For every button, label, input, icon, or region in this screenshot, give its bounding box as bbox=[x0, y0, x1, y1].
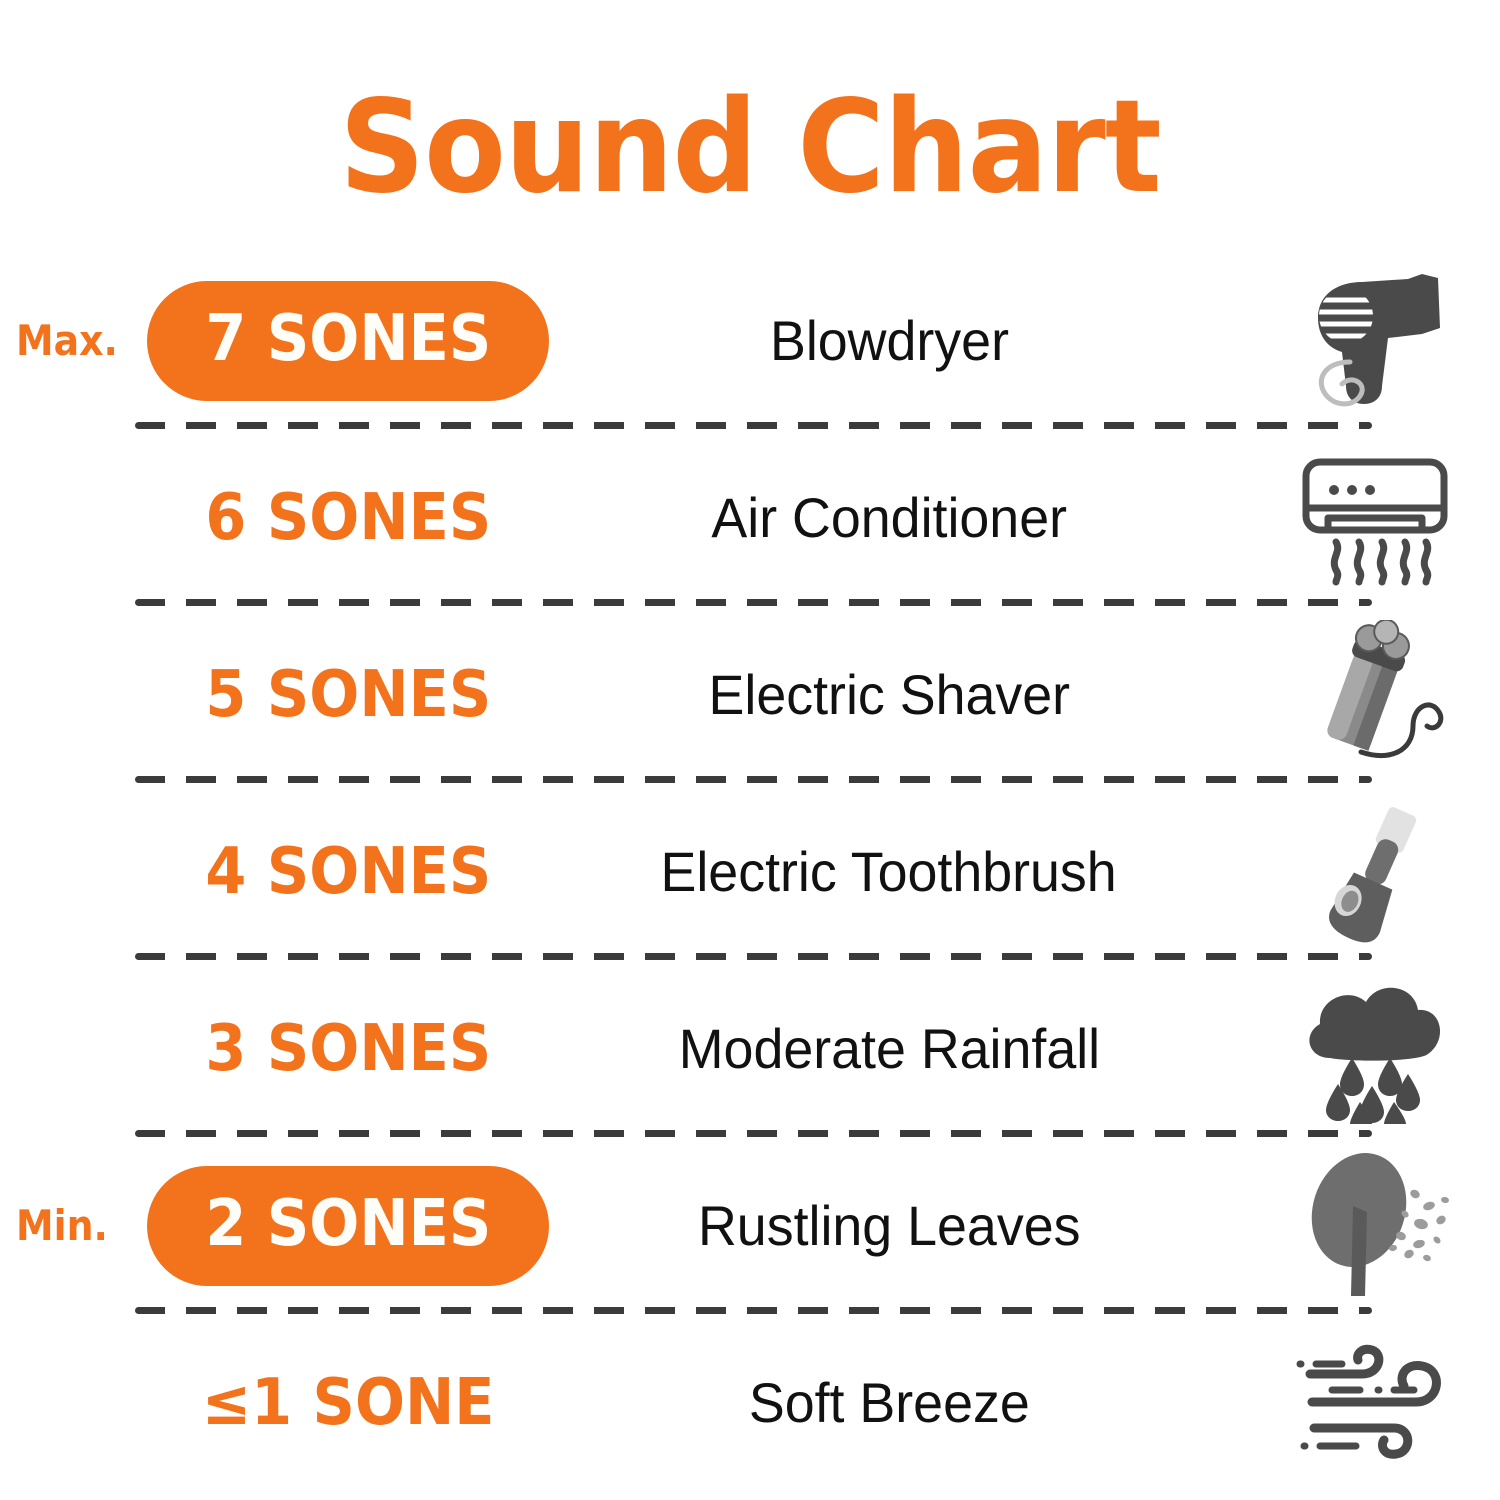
tree-leaves-icon bbox=[1293, 1148, 1458, 1303]
sone-value: ≤1 SONE bbox=[202, 1371, 495, 1435]
max-caption: Max. bbox=[16, 320, 118, 362]
row-divider bbox=[135, 422, 1372, 429]
sone-value: 5 SONES bbox=[205, 663, 491, 727]
electric-toothbrush-icon bbox=[1300, 797, 1450, 947]
sone-highlight-pill: 7 SONES bbox=[147, 281, 550, 401]
source-label-cell: Blowdryer bbox=[548, 313, 1250, 369]
sone-value: 3 SONES bbox=[205, 1017, 491, 1081]
source-label: Air Conditioner bbox=[711, 490, 1067, 546]
source-label-cell: Rustling Leaves bbox=[548, 1198, 1250, 1254]
minmax-caption-cell bbox=[0, 509, 148, 527]
sone-value-cell: ≤1 SONE bbox=[148, 1371, 548, 1435]
icon-cell bbox=[1250, 1148, 1500, 1303]
wind-breeze-icon bbox=[1288, 1338, 1463, 1468]
list-item: 4 SONES Electric Toothbrush bbox=[0, 783, 1500, 960]
electric-shaver-icon bbox=[1295, 620, 1455, 770]
sone-value-cell: 5 SONES bbox=[148, 663, 548, 727]
sone-value: 7 SONES bbox=[205, 307, 491, 371]
sound-chart-infographic: Sound Chart Max. 7 SONES Blowdryer bbox=[0, 0, 1500, 1500]
minmax-caption-cell: Max. bbox=[0, 320, 148, 362]
sone-value-cell: 7 SONES bbox=[148, 281, 548, 401]
row-divider bbox=[135, 776, 1372, 783]
row-divider bbox=[135, 1130, 1372, 1137]
icon-cell bbox=[1250, 266, 1500, 416]
icon-cell bbox=[1250, 448, 1500, 588]
sone-value: 4 SONES bbox=[205, 840, 491, 904]
list-item: ≤1 SONE Soft Breeze bbox=[0, 1314, 1500, 1491]
icon-cell bbox=[1250, 797, 1500, 947]
list-item: Max. 7 SONES Blowdryer bbox=[0, 252, 1500, 429]
icon-cell bbox=[1250, 974, 1500, 1124]
list-item: 3 SONES Moderate Rainfall bbox=[0, 960, 1500, 1137]
minmax-caption-cell bbox=[0, 1394, 148, 1412]
sone-value-cell: 3 SONES bbox=[148, 1017, 548, 1081]
row-divider bbox=[135, 599, 1372, 606]
sone-value: 6 SONES bbox=[205, 486, 491, 550]
minmax-caption-cell bbox=[0, 686, 148, 704]
blowdryer-icon bbox=[1290, 266, 1460, 416]
sone-value-cell: 4 SONES bbox=[148, 840, 548, 904]
source-label-cell: Electric Shaver bbox=[548, 667, 1250, 723]
min-caption: Min. bbox=[16, 1205, 108, 1247]
air-conditioner-icon bbox=[1290, 448, 1460, 588]
source-label-cell: Soft Breeze bbox=[548, 1375, 1250, 1431]
icon-cell bbox=[1250, 620, 1500, 770]
minmax-caption-cell bbox=[0, 863, 148, 881]
source-label-cell: Air Conditioner bbox=[548, 490, 1250, 546]
source-label-cell: Electric Toothbrush bbox=[548, 844, 1250, 900]
sound-level-list: Max. 7 SONES Blowdryer bbox=[0, 252, 1500, 1491]
rain-cloud-icon bbox=[1290, 974, 1460, 1124]
source-label: Electric Shaver bbox=[708, 667, 1070, 723]
source-label: Soft Breeze bbox=[749, 1375, 1030, 1431]
sone-value: 2 SONES bbox=[205, 1192, 491, 1256]
minmax-caption-cell: Min. bbox=[0, 1205, 148, 1247]
list-item: 5 SONES Electric Shaver bbox=[0, 606, 1500, 783]
minmax-caption-cell bbox=[0, 1040, 148, 1058]
row-divider bbox=[135, 953, 1372, 960]
source-label: Blowdryer bbox=[769, 313, 1008, 369]
sone-highlight-pill: 2 SONES bbox=[147, 1166, 550, 1286]
page-title: Sound Chart bbox=[53, 84, 1448, 212]
sone-value-cell: 2 SONES bbox=[148, 1166, 548, 1286]
list-item: Min. 2 SONES Rustling Leaves bbox=[0, 1137, 1500, 1314]
sone-value-cell: 6 SONES bbox=[148, 486, 548, 550]
source-label-cell: Moderate Rainfall bbox=[548, 1021, 1250, 1077]
row-divider bbox=[135, 1307, 1372, 1314]
icon-cell bbox=[1250, 1338, 1500, 1468]
source-label: Moderate Rainfall bbox=[678, 1021, 1099, 1077]
list-item: 6 SONES Air Conditioner bbox=[0, 429, 1500, 606]
source-label: Rustling Leaves bbox=[698, 1198, 1081, 1254]
source-label: Electric Toothbrush bbox=[661, 844, 1117, 900]
